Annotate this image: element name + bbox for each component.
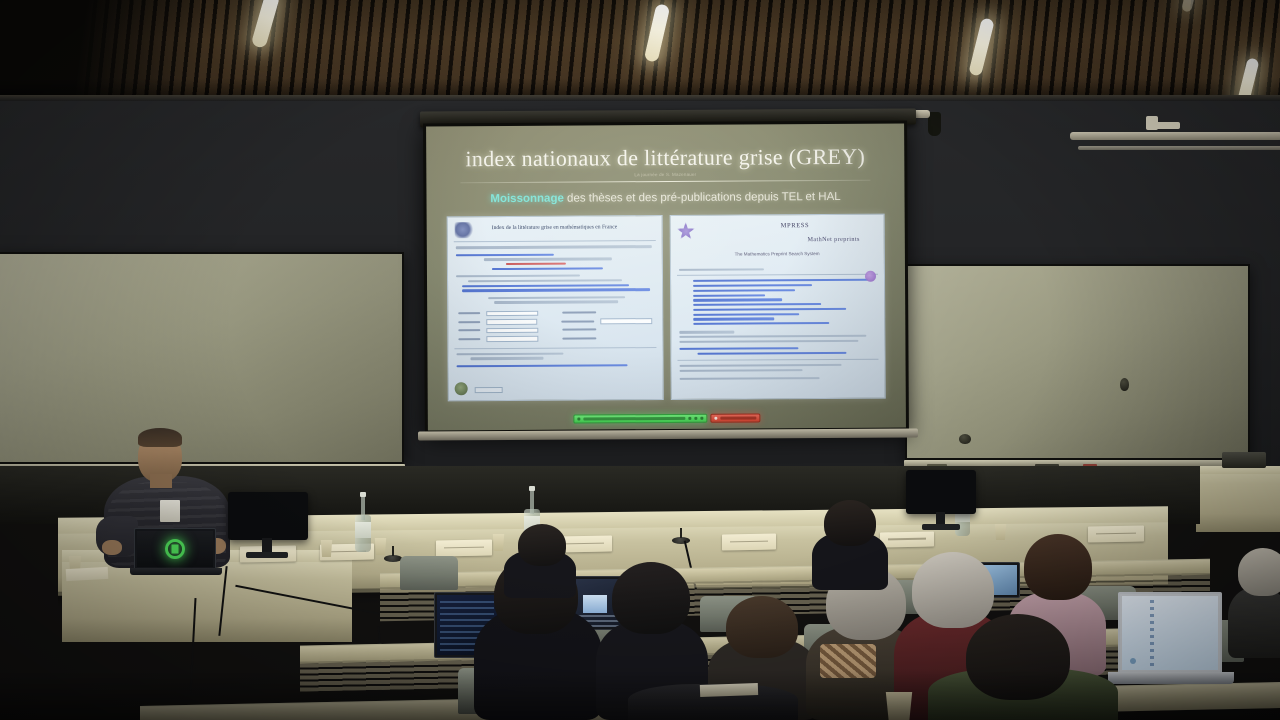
microphone[interactable] bbox=[672, 528, 690, 544]
audience-person-head bbox=[518, 524, 566, 566]
lecture-hall-scene: index nationaux de littérature grise (GR… bbox=[0, 0, 1280, 720]
desk-monitor bbox=[906, 470, 976, 514]
paper-cup[interactable] bbox=[492, 534, 505, 551]
desk-monitor bbox=[228, 492, 308, 540]
whiteboard-knob-center[interactable] bbox=[1120, 378, 1129, 391]
placard-text bbox=[1096, 532, 1136, 534]
name-placard bbox=[722, 534, 776, 551]
desk-monitor-foot bbox=[246, 552, 288, 558]
laptop-front-sidebar bbox=[1150, 600, 1154, 668]
audience-laptop-front[interactable] bbox=[1118, 592, 1222, 674]
bottle-cap bbox=[360, 492, 366, 497]
presenter-badge bbox=[160, 500, 180, 522]
wall-top-edge bbox=[0, 95, 1280, 101]
placard-text bbox=[444, 546, 484, 548]
audience-person-head bbox=[824, 500, 876, 546]
presenter-hand-left bbox=[102, 540, 122, 555]
presenter-neck bbox=[150, 474, 172, 488]
seat-back bbox=[400, 556, 458, 590]
paper-cup[interactable] bbox=[994, 524, 1007, 540]
whiteboard-right-gloss bbox=[907, 266, 1248, 458]
desk-monitor-foot bbox=[922, 524, 960, 530]
equipment-box bbox=[1222, 452, 1266, 468]
bottle-cap bbox=[529, 486, 535, 491]
presenter-hair bbox=[138, 428, 182, 447]
projection-surface: index nationaux de littérature grise (GR… bbox=[426, 124, 906, 431]
name-placard bbox=[436, 540, 492, 557]
audience-person-torso bbox=[1228, 588, 1280, 658]
rail-mount-arm bbox=[1152, 122, 1180, 129]
laptop-front-dot bbox=[1130, 658, 1136, 664]
bottle-label bbox=[355, 522, 371, 538]
screen-sheen bbox=[426, 124, 906, 431]
presenter-laptop-base bbox=[130, 568, 222, 575]
laptop-green-logo-inner bbox=[172, 545, 179, 554]
name-placard bbox=[880, 532, 934, 548]
foreground-shadow bbox=[0, 670, 1280, 720]
audience-laptop-front-screen bbox=[1122, 596, 1218, 670]
laptop-window-bright bbox=[583, 595, 607, 613]
whiteboard-knob-lower[interactable] bbox=[959, 434, 971, 444]
placard-text bbox=[888, 538, 927, 540]
whiteboard-right bbox=[905, 264, 1250, 460]
paper-cup[interactable] bbox=[320, 540, 333, 557]
name-placard bbox=[1088, 526, 1144, 543]
water-bottle[interactable] bbox=[355, 492, 371, 552]
audience-person-head bbox=[726, 596, 798, 658]
whiteboard-left-gloss bbox=[0, 254, 402, 462]
audience-person-head bbox=[912, 552, 994, 628]
microphone-base bbox=[672, 537, 690, 544]
side-cabinet bbox=[1196, 470, 1280, 532]
audience-person-head bbox=[1024, 534, 1092, 600]
whiteboard-left bbox=[0, 252, 404, 464]
placard-text bbox=[564, 542, 604, 544]
microphone-stem bbox=[392, 546, 393, 557]
paper-sheet bbox=[66, 567, 109, 581]
whiteboard-right-surface bbox=[907, 266, 1248, 458]
screen-rail bbox=[1070, 132, 1280, 140]
audience-person-head bbox=[612, 562, 690, 634]
audience-person-head bbox=[1238, 548, 1280, 596]
placard-text bbox=[730, 540, 769, 542]
whiteboard-left-surface bbox=[0, 254, 402, 462]
presenter-laptop[interactable] bbox=[134, 528, 216, 570]
microphone-stem bbox=[680, 528, 681, 539]
projection-screen: index nationaux de littérature grise (GR… bbox=[423, 121, 909, 434]
screen-rail-secondary bbox=[1078, 146, 1280, 150]
